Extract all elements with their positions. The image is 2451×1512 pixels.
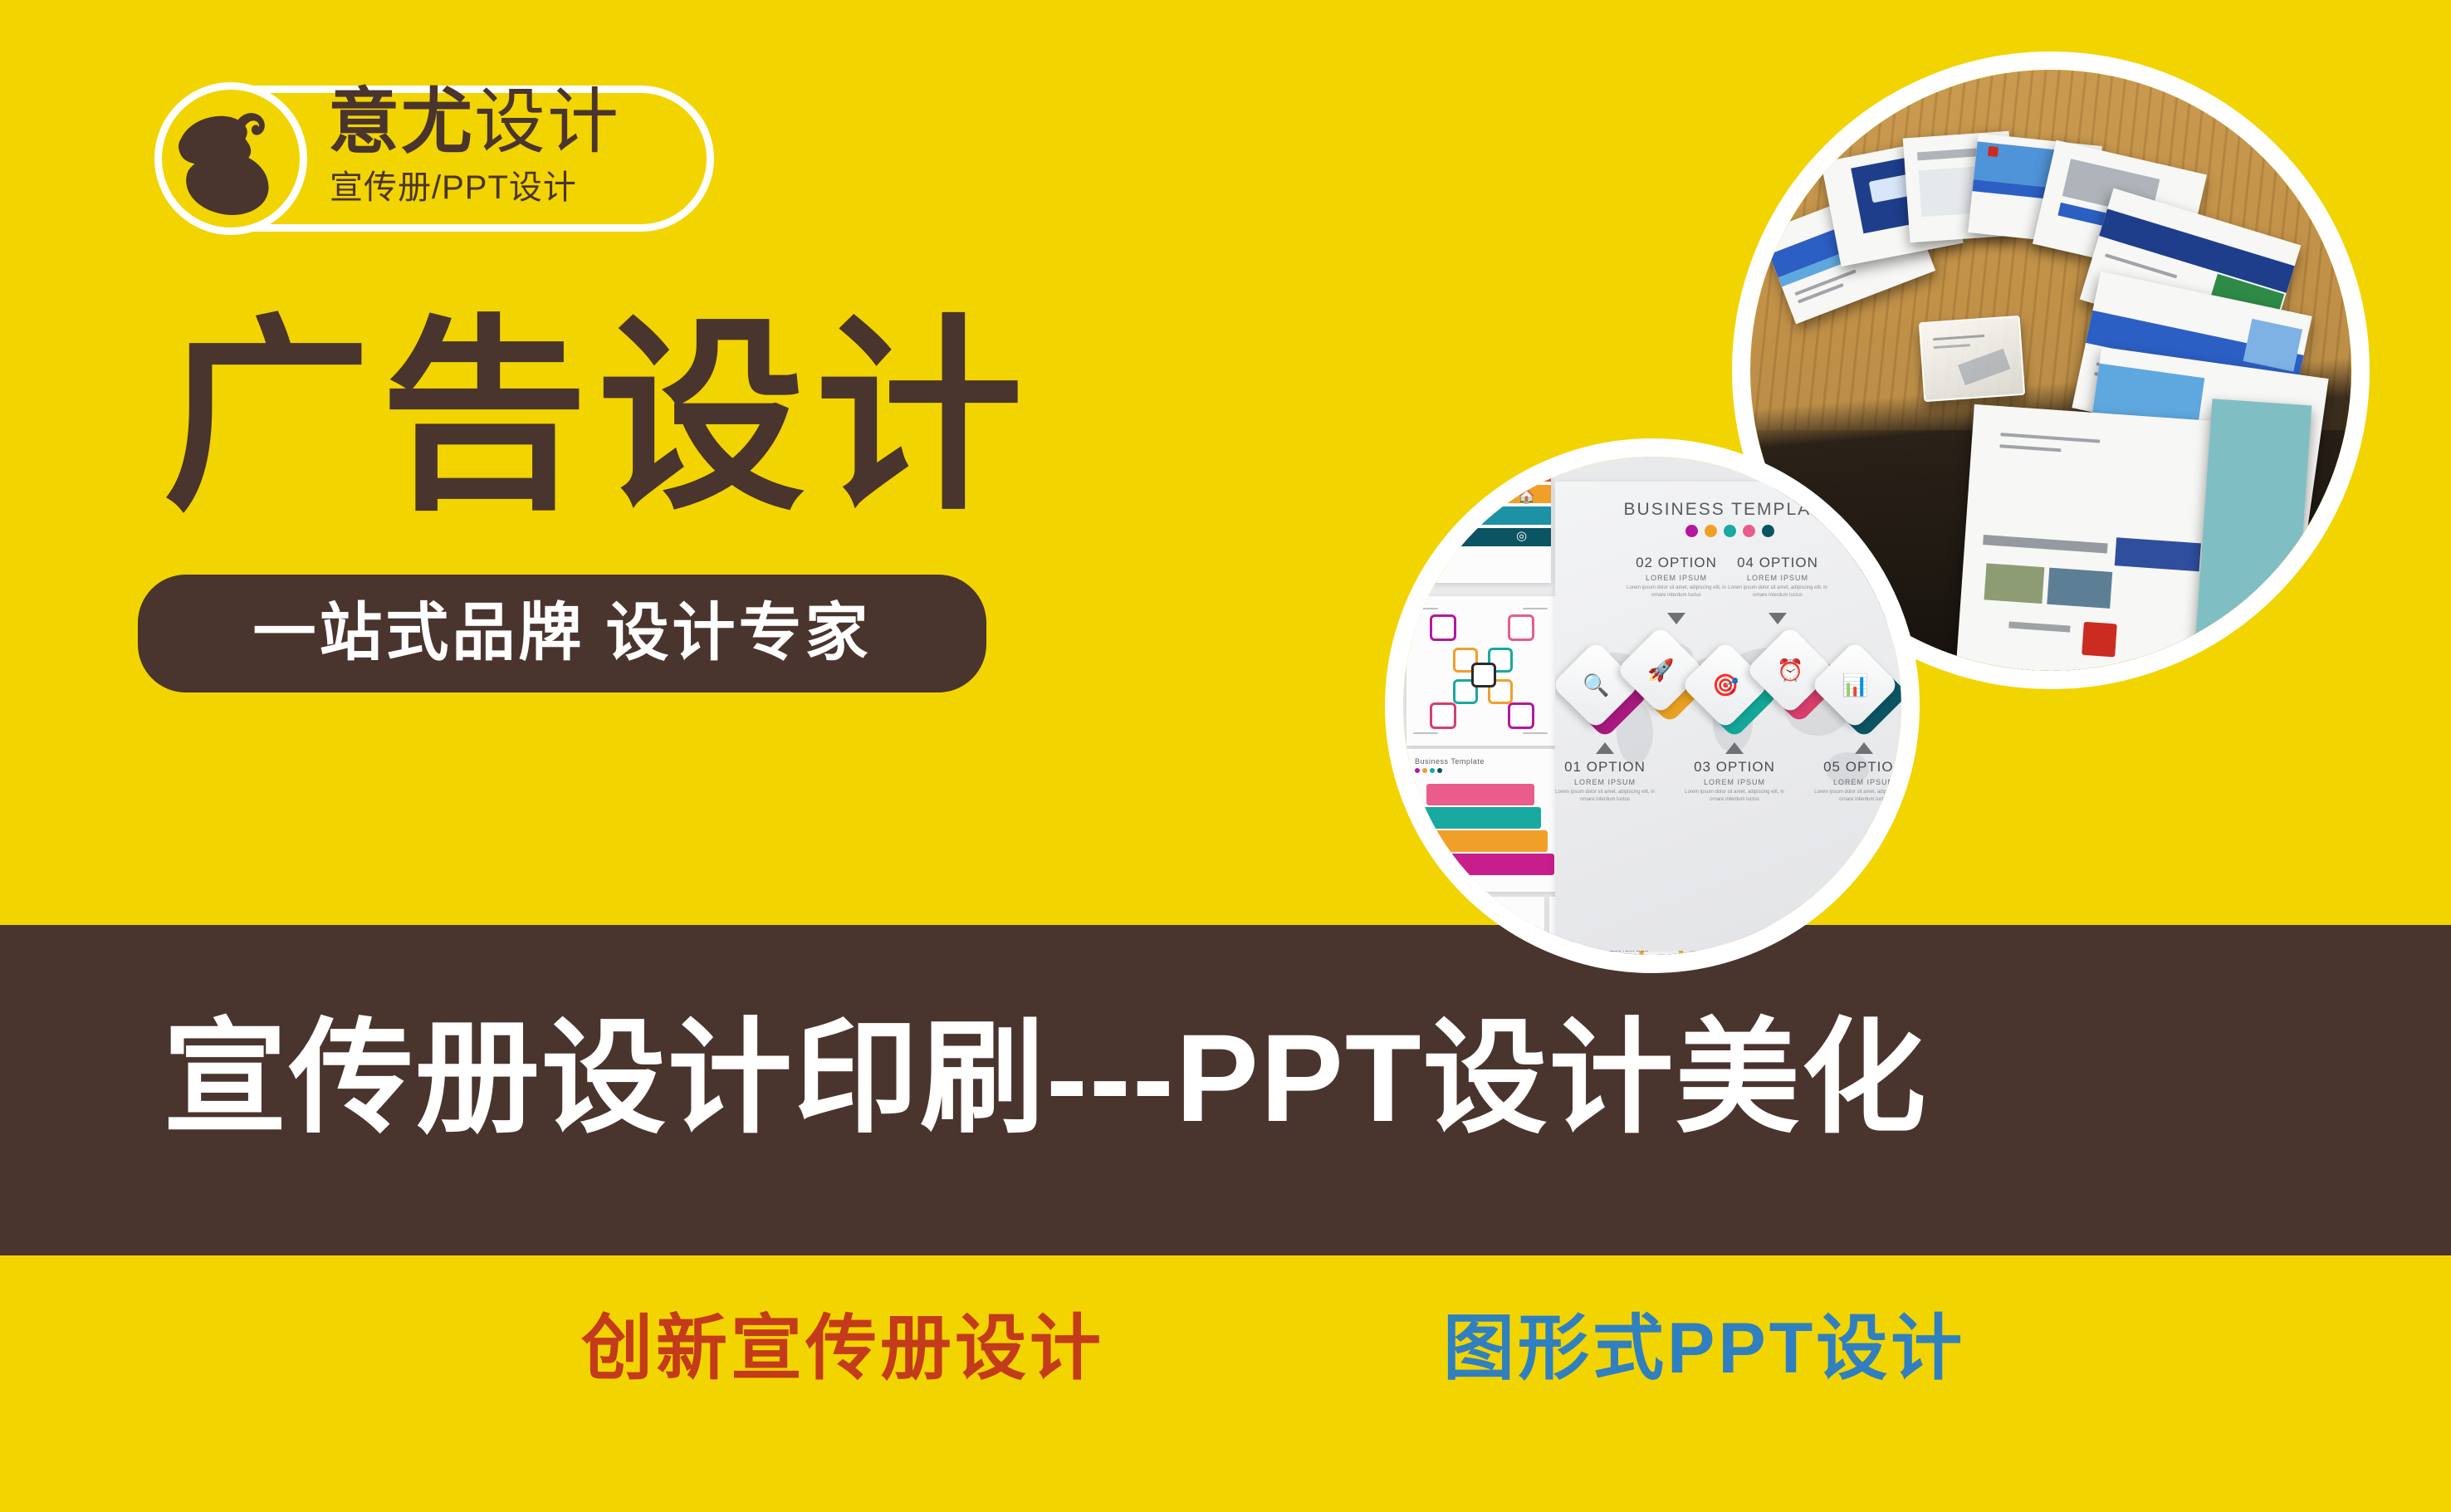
option-label-01: 01 OPTION LOREM IPSUM Lorem ipsum dolor … xyxy=(1555,759,1655,804)
pointer-up-icon xyxy=(1855,742,1873,754)
thumb-banner-stack: 🏠 ◎ xyxy=(1411,457,1551,583)
logo-brand-name: 意尤设计 xyxy=(328,86,620,158)
option-label-03: 03 OPTION LOREM IPSUM Lorem ipsum dolor … xyxy=(1685,759,1784,804)
leaf-bird-mascot-icon xyxy=(163,91,299,227)
logo-brand-thin: 设计 xyxy=(474,82,620,162)
option-sub: LOREM IPSUM xyxy=(1814,778,1901,786)
front-brochure-edge xyxy=(2195,399,2312,654)
option-sub: LOREM IPSUM xyxy=(1728,574,1827,582)
header-dot xyxy=(1743,525,1755,537)
option-title: 05 OPTION xyxy=(1814,759,1901,776)
header-dot xyxy=(1724,525,1736,537)
main-infographic-slide: BUSINESS TEMPLATE 02 OPTION LOREM IPSUM … xyxy=(1555,482,1901,951)
option-body: Lorem ipsum dolor sit amet, adipiscing e… xyxy=(1627,585,1726,599)
header-dot xyxy=(1705,525,1717,537)
logo-brand-bold: 意尤 xyxy=(328,82,474,162)
option-label-05: 05 OPTION LOREM IPSUM Lorem ipsum dolor … xyxy=(1814,759,1901,804)
tagline-pill: 一站式品牌 设计专家 xyxy=(138,575,986,692)
magnifier-icon: 🔍 xyxy=(1583,674,1609,696)
option-diamond-05: 📊 xyxy=(1832,663,1896,726)
slide-title: BUSINESS TEMPLATE xyxy=(1555,500,1901,520)
band-headline: 宣传册设计印刷---PPT设计美化 xyxy=(163,1011,1928,1144)
option-sub: LOREM IPSUM xyxy=(1627,574,1726,582)
hero-headline: 广告设计 xyxy=(163,314,1033,521)
thumb-option-map-label: 04 OPTION xyxy=(1445,930,1484,938)
thumb-option-map-title: BUSINESS TEMPLATE xyxy=(1413,905,1499,913)
tagline-text: 一站式品牌 设计专家 xyxy=(252,600,871,667)
thumb-option-map: BUSINESS TEMPLATE 04 OPTION xyxy=(1403,897,1544,955)
option-title: 03 OPTION xyxy=(1685,759,1784,776)
pointer-up-icon xyxy=(1725,742,1744,754)
service-label-brochure: 创新宣传册设计 xyxy=(581,1310,1104,1387)
thumb-pyramid: Business Template xyxy=(1403,749,1561,892)
option-title: 02 OPTION xyxy=(1627,555,1726,571)
option-body: Lorem ipsum dolor sit amet, adipiscing e… xyxy=(1685,789,1784,804)
option-sub: LOREM IPSUM xyxy=(1555,778,1655,786)
option-sub: LOREM IPSUM xyxy=(1685,778,1784,786)
slide-header-dots xyxy=(1555,525,1901,537)
header-dot xyxy=(1762,525,1774,537)
rocket-icon: 🚀 xyxy=(1647,659,1674,681)
ppt-templates-inner: 🏠 ◎ Business xyxy=(1403,457,1901,955)
logo-subtitle: 宣传册/PPT设计 xyxy=(330,169,577,206)
promo-banner: 🏠 ◎ Business xyxy=(0,0,2451,1512)
pointer-down-icon xyxy=(1769,613,1787,624)
option-title: 04 OPTION xyxy=(1728,555,1827,571)
option-body: Lorem ipsum dolor sit amet, adipiscing e… xyxy=(1728,585,1827,599)
option-label-02: 02 OPTION LOREM IPSUM Lorem ipsum dolor … xyxy=(1627,555,1726,599)
logo-text: 意尤设计 宣传册/PPT设计 xyxy=(328,90,718,231)
pointer-up-icon xyxy=(1596,742,1614,754)
target-icon: 🎯 xyxy=(1712,674,1739,696)
option-label-04: 04 OPTION LOREM IPSUM Lorem ipsum dolor … xyxy=(1728,555,1827,599)
thumb-cross-layout xyxy=(1407,596,1556,746)
header-dot xyxy=(1685,525,1698,537)
pointer-down-icon xyxy=(1667,613,1685,624)
option-title: 01 OPTION xyxy=(1555,759,1655,776)
alarm-clock-icon: ⏰ xyxy=(1777,659,1803,681)
ppt-templates-circle: 🏠 ◎ Business xyxy=(1385,438,1920,973)
presentation-icon: 📊 xyxy=(1842,674,1868,696)
business-card-holder xyxy=(1919,316,2025,402)
option-body: Lorem ipsum dolor sit amet, adipiscing e… xyxy=(1814,789,1901,804)
thumb-pyramid-title: Business Template xyxy=(1415,757,1485,766)
service-label-ppt: 图形式PPT设计 xyxy=(1443,1310,1965,1387)
option-body: Lorem ipsum dolor sit amet, adipiscing e… xyxy=(1555,789,1655,804)
